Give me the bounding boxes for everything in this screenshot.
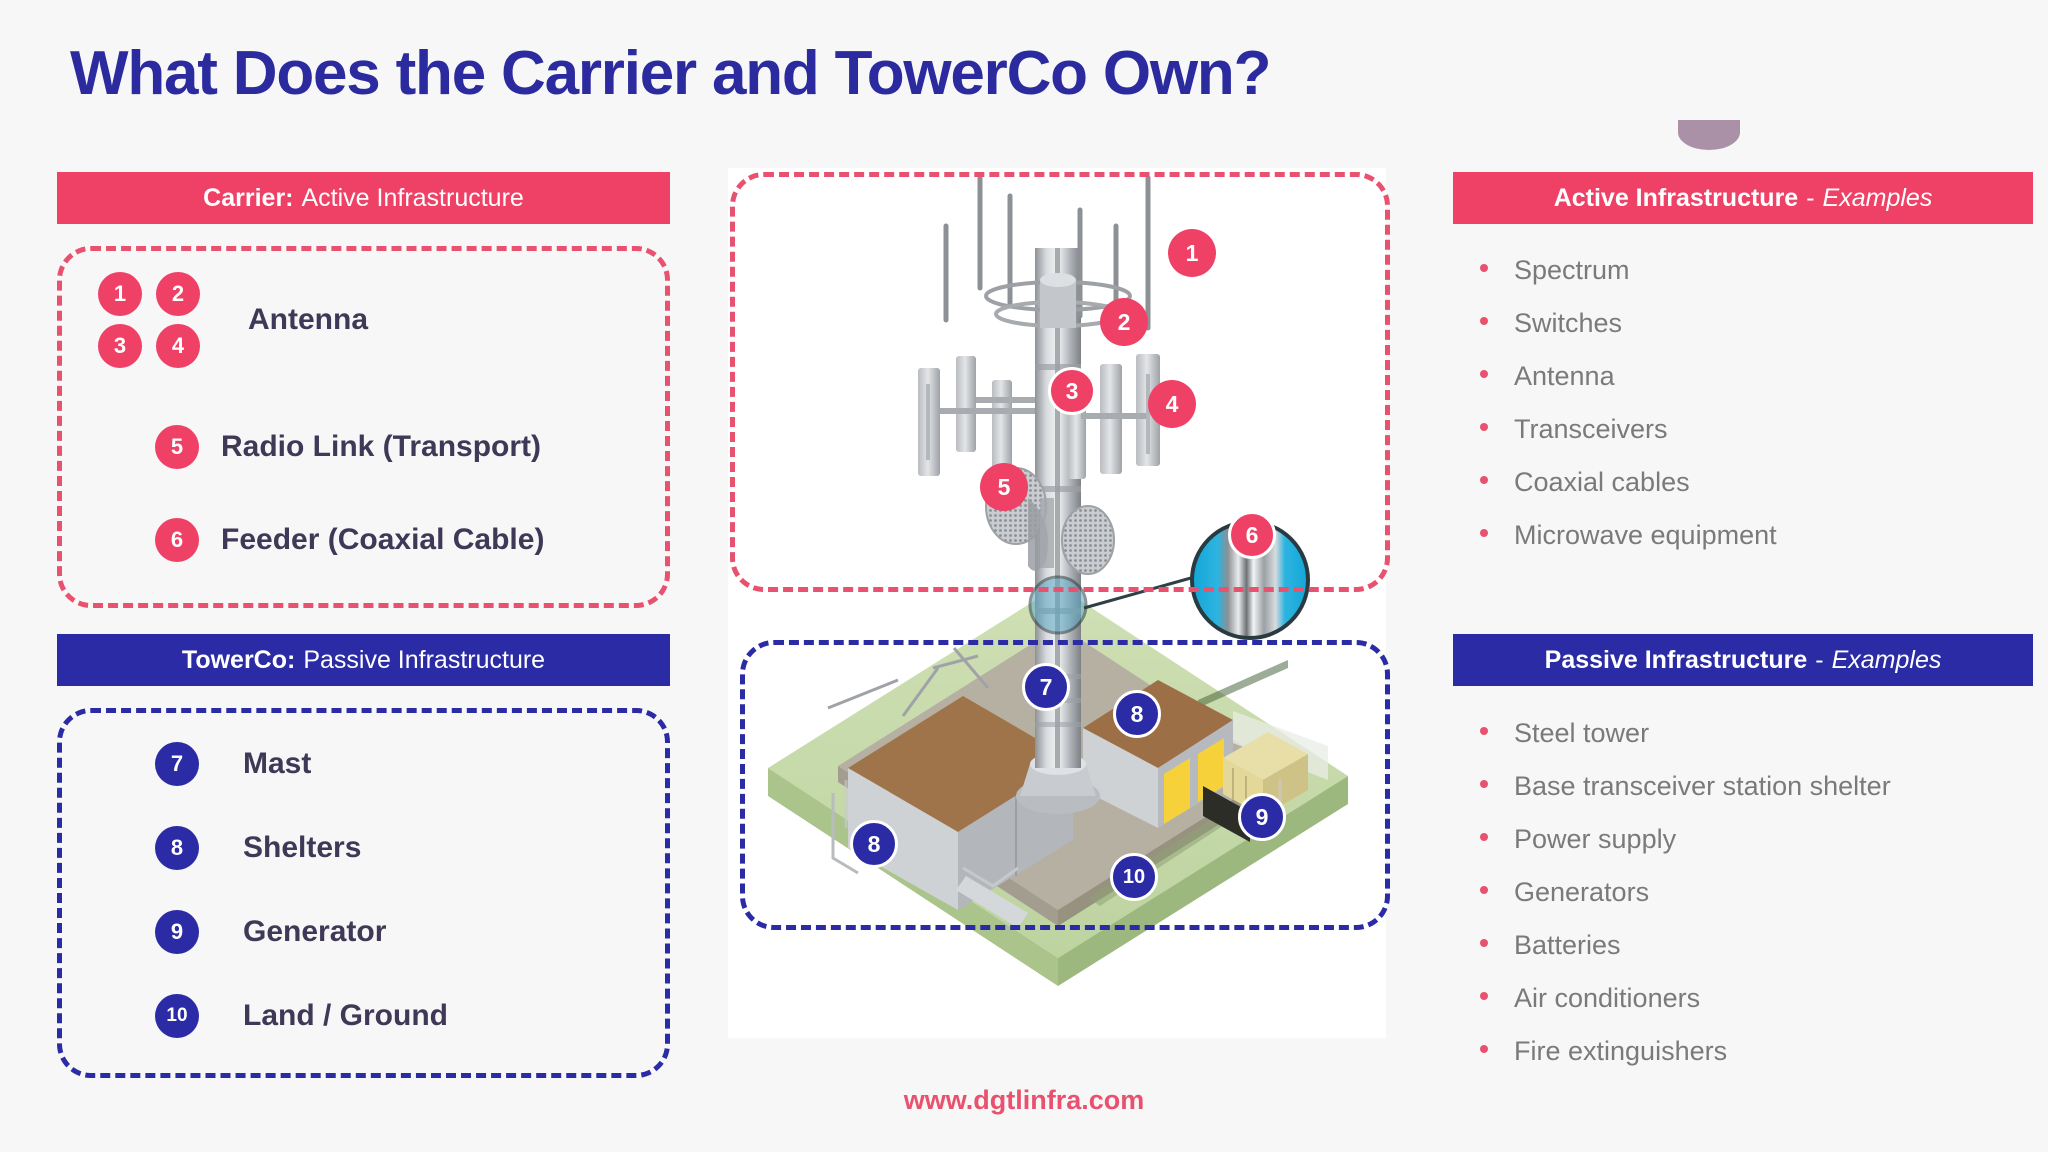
legend-row-mast: 7 Mast <box>155 742 311 786</box>
marker-10: 10 <box>1110 853 1158 901</box>
legend-row-feeder: 6 Feeder (Coaxial Cable) <box>155 518 544 562</box>
marker-9: 9 <box>1238 793 1286 841</box>
list-item: Generators <box>1480 877 2048 908</box>
bullet-icon <box>1480 939 1488 947</box>
bullet-icon <box>1480 476 1488 484</box>
marker-8-left: 8 <box>850 820 898 868</box>
bullet-icon <box>1480 370 1488 378</box>
badge-5: 5 <box>155 425 199 469</box>
bullet-icon <box>1480 423 1488 431</box>
list-item-label: Base transceiver station shelter <box>1514 771 1891 802</box>
passive-examples-header-bar: Passive Infrastructure - Examples <box>1453 634 2033 686</box>
bullet-icon <box>1480 780 1488 788</box>
list-item: Power supply <box>1480 824 2048 855</box>
badge-8: 8 <box>155 826 199 870</box>
marker-1: 1 <box>1168 229 1216 277</box>
active-examples-list: Spectrum Switches Antenna Transceivers C… <box>1480 255 2048 573</box>
list-item-label: Transceivers <box>1514 414 1668 445</box>
badge-10: 10 <box>155 994 199 1038</box>
legend-label-radio-link: Radio Link (Transport) <box>221 430 541 464</box>
legend-row-antenna: 1 2 3 4 Antenna <box>98 272 368 368</box>
marker-4: 4 <box>1148 380 1196 428</box>
marker-6: 6 <box>1228 511 1276 559</box>
towerco-header-bold: TowerCo: <box>182 646 295 675</box>
passive-examples-dash: - <box>1815 646 1823 675</box>
legend-label-feeder: Feeder (Coaxial Cable) <box>221 523 544 557</box>
antenna-badge-group: 1 2 3 4 <box>98 272 200 368</box>
list-item: Antenna <box>1480 361 2048 392</box>
list-item-label: Microwave equipment <box>1514 520 1777 551</box>
legend-label-mast: Mast <box>243 747 311 781</box>
antenna-badge-row-top: 1 2 <box>98 272 200 316</box>
list-item-label: Generators <box>1514 877 1649 908</box>
badge-2: 2 <box>156 272 200 316</box>
marker-2: 2 <box>1100 298 1148 346</box>
list-item-label: Steel tower <box>1514 718 1649 749</box>
cell-site-illustration <box>728 168 1386 1038</box>
passive-examples-bold: Passive Infrastructure <box>1545 646 1808 675</box>
badge-1: 1 <box>98 272 142 316</box>
bullet-icon <box>1480 886 1488 894</box>
marker-3: 3 <box>1048 367 1096 415</box>
badge-3: 3 <box>98 324 142 368</box>
bullet-icon <box>1480 264 1488 272</box>
list-item: Spectrum <box>1480 255 2048 286</box>
legend-label-land: Land / Ground <box>243 999 448 1033</box>
legend-row-radio-link: 5 Radio Link (Transport) <box>155 425 541 469</box>
active-examples-italic: Examples <box>1823 184 1933 213</box>
bullet-icon <box>1480 833 1488 841</box>
passive-examples-italic: Examples <box>1832 646 1942 675</box>
legend-label-generator: Generator <box>243 915 386 949</box>
badge-7: 7 <box>155 742 199 786</box>
bullet-icon <box>1480 529 1488 537</box>
active-examples-dash: - <box>1806 184 1814 213</box>
bullet-icon <box>1480 317 1488 325</box>
list-item-label: Power supply <box>1514 824 1676 855</box>
active-examples-bold: Active Infrastructure <box>1554 184 1799 213</box>
bullet-icon <box>1480 727 1488 735</box>
page-title: What Does the Carrier and TowerCo Own? <box>70 38 1270 109</box>
bullet-icon <box>1480 1045 1488 1053</box>
bullet-icon <box>1480 992 1488 1000</box>
list-item-label: Switches <box>1514 308 1622 339</box>
legend-label-antenna: Antenna <box>248 303 368 337</box>
badge-9: 9 <box>155 910 199 954</box>
legend-row-land: 10 Land / Ground <box>155 994 448 1038</box>
active-examples-header-bar: Active Infrastructure - Examples <box>1453 172 2033 224</box>
list-item: Air conditioners <box>1480 983 2048 1014</box>
passive-examples-list: Steel tower Base transceiver station she… <box>1480 718 2048 1089</box>
legend-label-shelters: Shelters <box>243 831 361 865</box>
list-item: Batteries <box>1480 930 2048 961</box>
list-item: Coaxial cables <box>1480 467 2048 498</box>
list-item-label: Antenna <box>1514 361 1615 392</box>
towerco-header-bar: TowerCo: Passive Infrastructure <box>57 634 670 686</box>
towerco-header-rest: Passive Infrastructure <box>303 646 545 675</box>
badge-4: 4 <box>156 324 200 368</box>
list-item: Fire extinguishers <box>1480 1036 2048 1067</box>
decorative-swoosh-icon <box>1678 120 1740 150</box>
list-item-label: Batteries <box>1514 930 1621 961</box>
list-item: Base transceiver station shelter <box>1480 771 2048 802</box>
list-item-label: Spectrum <box>1514 255 1630 286</box>
badge-6: 6 <box>155 518 199 562</box>
list-item-label: Fire extinguishers <box>1514 1036 1727 1067</box>
carrier-header-bar: Carrier: Active Infrastructure <box>57 172 670 224</box>
list-item: Switches <box>1480 308 2048 339</box>
legend-row-shelters: 8 Shelters <box>155 826 361 870</box>
legend-row-generator: 9 Generator <box>155 910 386 954</box>
carrier-header-rest: Active Infrastructure <box>302 184 524 213</box>
list-item: Transceivers <box>1480 414 2048 445</box>
marker-7: 7 <box>1022 663 1070 711</box>
list-item: Steel tower <box>1480 718 2048 749</box>
list-item-label: Coaxial cables <box>1514 467 1690 498</box>
antenna-badge-row-bottom: 3 4 <box>98 324 200 368</box>
carrier-header-bold: Carrier: <box>203 184 293 213</box>
marker-8-right: 8 <box>1113 690 1161 738</box>
list-item: Microwave equipment <box>1480 520 2048 551</box>
marker-5: 5 <box>980 463 1028 511</box>
list-item-label: Air conditioners <box>1514 983 1700 1014</box>
footer-website-url[interactable]: www.dgtlinfra.com <box>0 1085 2048 1116</box>
